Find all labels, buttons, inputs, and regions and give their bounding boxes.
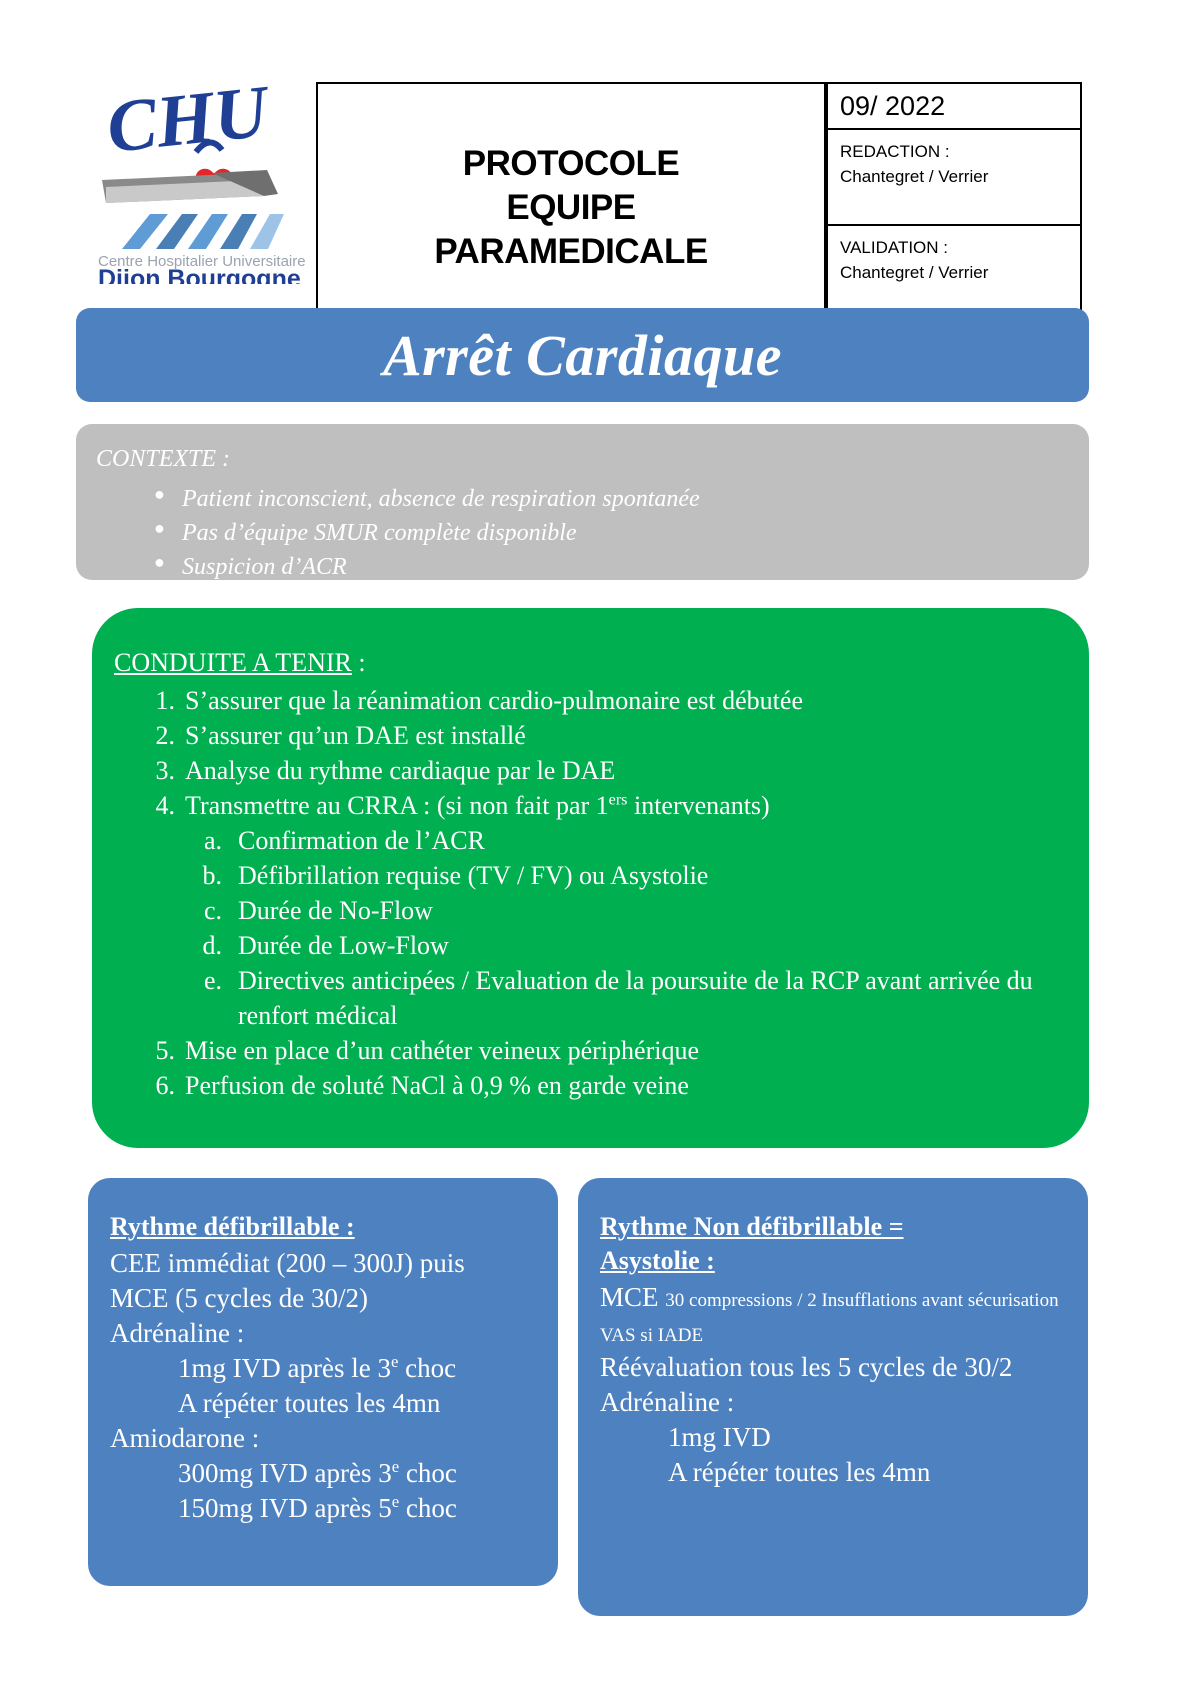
protocol-page: CHU Centre Hospitalier Universitaire Dij… <box>0 0 1200 1697</box>
list-item: ● Suspicion d’ACR <box>136 550 700 584</box>
list-item: 2. S’assurer qu’un DAE est installé <box>137 719 1067 754</box>
list-item: ● Patient inconscient, absence de respir… <box>136 482 700 516</box>
non-shockable-reevaluation: Réévaluation tous les 5 cycles de 30/2 <box>600 1350 1068 1385</box>
context-list: ● Patient inconscient, absence de respir… <box>136 482 700 584</box>
conduite-steps: 1. S’assurer que la réanimation cardio-p… <box>137 684 1067 1104</box>
non-shockable-heading-line-2: Asystolie : <box>600 1246 715 1275</box>
substep-text: Durée de Low-Flow <box>238 931 449 960</box>
shockable-adrenaline-label: Adrénaline : <box>110 1316 538 1351</box>
list-item: b. Défibrillation requise (TV / FV) ou A… <box>185 859 1067 894</box>
shockable-heading: Rythme défibrillable : <box>110 1210 538 1244</box>
substep-text: Durée de No-Flow <box>238 896 433 925</box>
validation-value: Chantegret / Verrier <box>840 261 1068 286</box>
shockable-adrenaline-repeat: A répéter toutes les 4mn <box>110 1386 538 1421</box>
step-number: 2. <box>137 719 175 754</box>
page-title-banner: Arrêt Cardiaque <box>76 308 1089 402</box>
step-text: Mise en place d’un cathéter veineux péri… <box>185 1036 699 1065</box>
redaction-label: REDACTION : <box>840 140 1068 165</box>
list-item: a. Confirmation de l’ACR <box>185 824 1067 859</box>
dose-text-before: 1mg IVD après le 3 <box>178 1353 391 1383</box>
dose-text-after: choc <box>399 1493 457 1523</box>
shockable-cee-line: CEE immédiat (200 – 300J) puis <box>110 1246 538 1281</box>
step-text: S’assurer que la réanimation cardio-pulm… <box>185 686 803 715</box>
document-meta-column: 09/ 2022 REDACTION : Chantegret / Verrie… <box>826 82 1082 322</box>
step-number: 3. <box>137 754 175 789</box>
substep-text: Directives anticipées / Evaluation de la… <box>238 966 1033 1030</box>
dose-text-after: choc <box>399 1458 457 1488</box>
list-item: 6. Perfusion de soluté NaCl à 0,9 % en g… <box>137 1069 1067 1104</box>
list-item: d. Durée de Low-Flow <box>185 929 1067 964</box>
step-text: Analyse du rythme cardiaque par le DAE <box>185 756 615 785</box>
substep-number: a. <box>190 824 222 859</box>
list-item: 1. S’assurer que la réanimation cardio-p… <box>137 684 1067 719</box>
protocol-date: 09/ 2022 <box>826 82 1082 130</box>
substep-text: Confirmation de l’ACR <box>238 826 485 855</box>
protocol-title-line-3: PARAMEDICALE <box>434 230 707 274</box>
protocol-title-cell: PROTOCOLE EQUIPE PARAMEDICALE <box>316 82 826 334</box>
shockable-amiodarone-label: Amiodarone : <box>110 1421 538 1456</box>
bullet-icon: ● <box>154 482 165 508</box>
dose-text-before: 300mg IVD après 3 <box>178 1458 392 1488</box>
non-shockable-mce-line: MCE 30 compressions / 2 Insufflations av… <box>600 1280 1068 1350</box>
non-shockable-rhythm-box: Rythme Non défibrillable = Asystolie : M… <box>578 1178 1088 1616</box>
conduite-heading-suffix: : <box>352 648 366 677</box>
substep-text: Défibrillation requise (TV / FV) ou Asys… <box>238 861 708 890</box>
context-item-text: Pas d’équipe SMUR complète disponible <box>182 520 577 546</box>
list-item: 5. Mise en place d’un cathéter veineux p… <box>137 1034 1067 1069</box>
non-shockable-adrenaline-repeat: A répéter toutes les 4mn <box>600 1455 1068 1490</box>
dose-text-before: 150mg IVD après 5 <box>178 1493 392 1523</box>
non-shockable-heading: Rythme Non défibrillable = Asystolie : <box>600 1210 1068 1278</box>
list-item: 3. Analyse du rythme cardiaque par le DA… <box>137 754 1067 789</box>
logo-subtitle-lower: Dijon Bourgogne <box>98 265 301 284</box>
step-number: 1. <box>137 684 175 719</box>
document-header: CHU Centre Hospitalier Universitaire Dij… <box>0 60 1200 295</box>
protocol-title-line-2: EQUIPE <box>506 186 635 230</box>
context-item-text: Patient inconscient, absence de respirat… <box>182 486 700 512</box>
shockable-adrenaline-dose: 1mg IVD après le 3e choc <box>110 1351 538 1386</box>
step-number: 5. <box>137 1034 175 1069</box>
step-text: Perfusion de soluté NaCl à 0,9 % en gard… <box>185 1071 689 1100</box>
chu-dijon-bourgogne-logo: CHU Centre Hospitalier Universitaire Dij… <box>92 74 307 284</box>
non-shockable-heading-line-1: Rythme Non défibrillable = <box>600 1212 904 1241</box>
mce-label: MCE <box>600 1282 659 1312</box>
list-item: e. Directives anticipées / Evaluation de… <box>185 964 1067 1034</box>
substep-number: d. <box>190 929 222 964</box>
context-label: CONTEXTE : <box>96 446 230 473</box>
substep-number: e. <box>190 964 222 999</box>
step-number: 4. <box>137 789 175 824</box>
step-text: S’assurer qu’un DAE est installé <box>185 721 526 750</box>
conduite-heading-text: CONDUITE A TENIR <box>114 648 352 677</box>
non-shockable-adrenaline-dose: 1mg IVD <box>600 1420 1068 1455</box>
shockable-amiodarone-dose-1: 300mg IVD après 3e choc <box>110 1456 538 1491</box>
non-shockable-adrenaline-label: Adrénaline : <box>600 1385 1068 1420</box>
list-item: 4. Transmettre au CRRA : (si non fait pa… <box>137 789 1067 1034</box>
step-number: 6. <box>137 1069 175 1104</box>
mce-detail: 30 compressions / 2 Insufflations avant … <box>600 1290 1059 1346</box>
conduite-a-tenir-box: CONDUITE A TENIR : 1. S’assurer que la r… <box>92 608 1089 1148</box>
step-text-before: Transmettre au CRRA : (si non fait par 1 <box>185 791 609 820</box>
conduite-heading: CONDUITE A TENIR : <box>114 648 366 678</box>
substep-number: c. <box>190 894 222 929</box>
context-box: CONTEXTE : ● Patient inconscient, absenc… <box>76 424 1089 580</box>
substep-number: b. <box>190 859 222 894</box>
conduite-substeps: a. Confirmation de l’ACR b. Défibrillati… <box>185 824 1067 1034</box>
shockable-amiodarone-dose-2: 150mg IVD après 5e choc <box>110 1491 538 1526</box>
bullet-icon: ● <box>154 550 165 576</box>
page-title: Arrêt Cardiaque <box>383 322 782 389</box>
validation-label: VALIDATION : <box>840 236 1068 261</box>
redaction-cell: REDACTION : Chantegret / Verrier <box>826 130 1082 226</box>
shockable-rhythm-box: Rythme défibrillable : CEE immédiat (200… <box>88 1178 558 1586</box>
logo-graphic: CHU Centre Hospitalier Universitaire Dij… <box>92 74 307 284</box>
dose-text-after: choc <box>398 1353 456 1383</box>
list-item: ● Pas d’équipe SMUR complète disponible <box>136 516 700 550</box>
step-text-after: intervenants) <box>627 791 769 820</box>
protocol-title-line-1: PROTOCOLE <box>463 142 680 186</box>
redaction-value: Chantegret / Verrier <box>840 165 1068 190</box>
shockable-mce-line: MCE (5 cycles de 30/2) <box>110 1281 538 1316</box>
list-item: c. Durée de No-Flow <box>185 894 1067 929</box>
bullet-icon: ● <box>154 516 165 542</box>
svg-text:CHU: CHU <box>103 74 275 169</box>
context-item-text: Suspicion d’ACR <box>182 554 347 580</box>
step-superscript: ers <box>609 791 628 808</box>
